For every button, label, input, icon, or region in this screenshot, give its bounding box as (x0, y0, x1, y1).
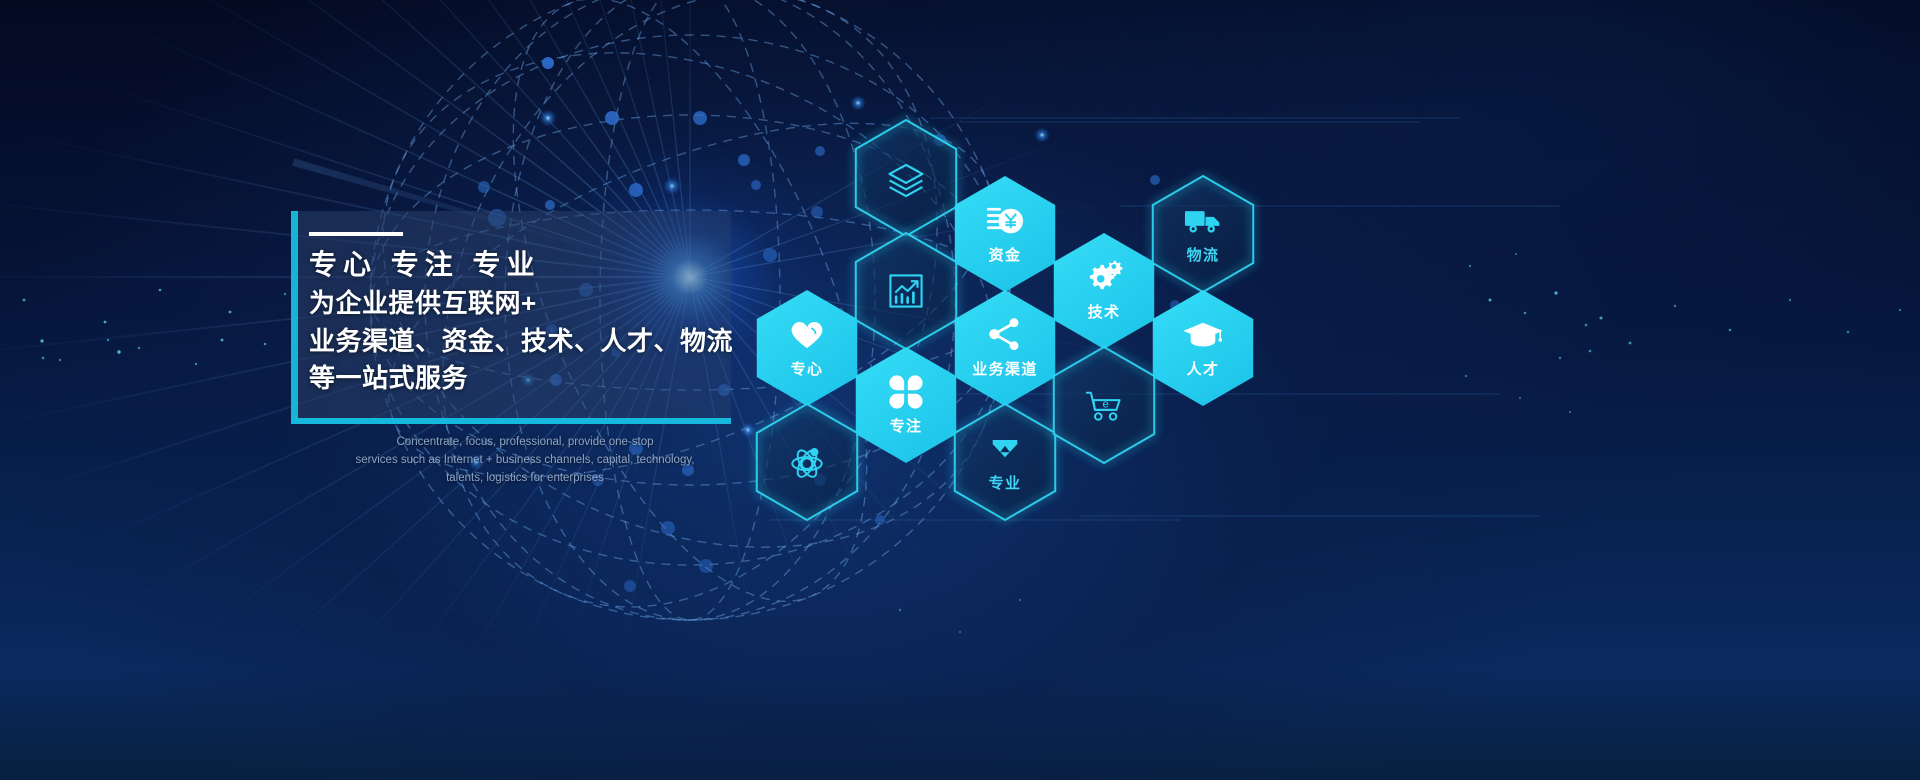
hexagon-label-focus: 专心 (791, 360, 824, 378)
hexagon-logistics[interactable]: 物流 (1153, 176, 1253, 292)
hexagon-label-logistics: 物流 (1187, 246, 1220, 264)
hexagon-label-talent: 人才 (1187, 360, 1220, 378)
hexagon-pro[interactable]: 专业 (955, 404, 1055, 520)
hexagon-atom[interactable] (757, 404, 857, 520)
hexagon-label-dedicate: 专注 (890, 417, 923, 435)
banner-hero: 专心 专注 专业 为企业提供互联网+ 业务渠道、资金、技术、人才、物流 等一站式… (0, 0, 1920, 780)
hexagon-label-pro: 专业 (989, 474, 1022, 492)
svg-text:e: e (1102, 398, 1108, 410)
hexagon-label-funds: 资金 (989, 246, 1022, 264)
hexagon-talent[interactable]: 人才 (1153, 290, 1253, 406)
hexagon-layers[interactable] (856, 120, 956, 236)
hexagon-tech[interactable]: 技术 (1054, 233, 1154, 349)
hexagon-channels[interactable]: 业务渠道 (955, 290, 1055, 406)
hexagon-cluster: 资金 技术 物流 人才 (0, 0, 1920, 780)
hexagon-label-tech: 技术 (1088, 303, 1121, 321)
hexagon-chart[interactable] (856, 233, 956, 349)
hexagon-cart[interactable]: e (1054, 347, 1154, 463)
hexagon-funds[interactable]: 资金 (955, 176, 1055, 292)
hexagon-label-channels: 业务渠道 (972, 360, 1038, 378)
hexagon-focus[interactable]: 专心 (757, 290, 857, 406)
hexagon-dedicate[interactable]: 专注 (856, 347, 956, 463)
